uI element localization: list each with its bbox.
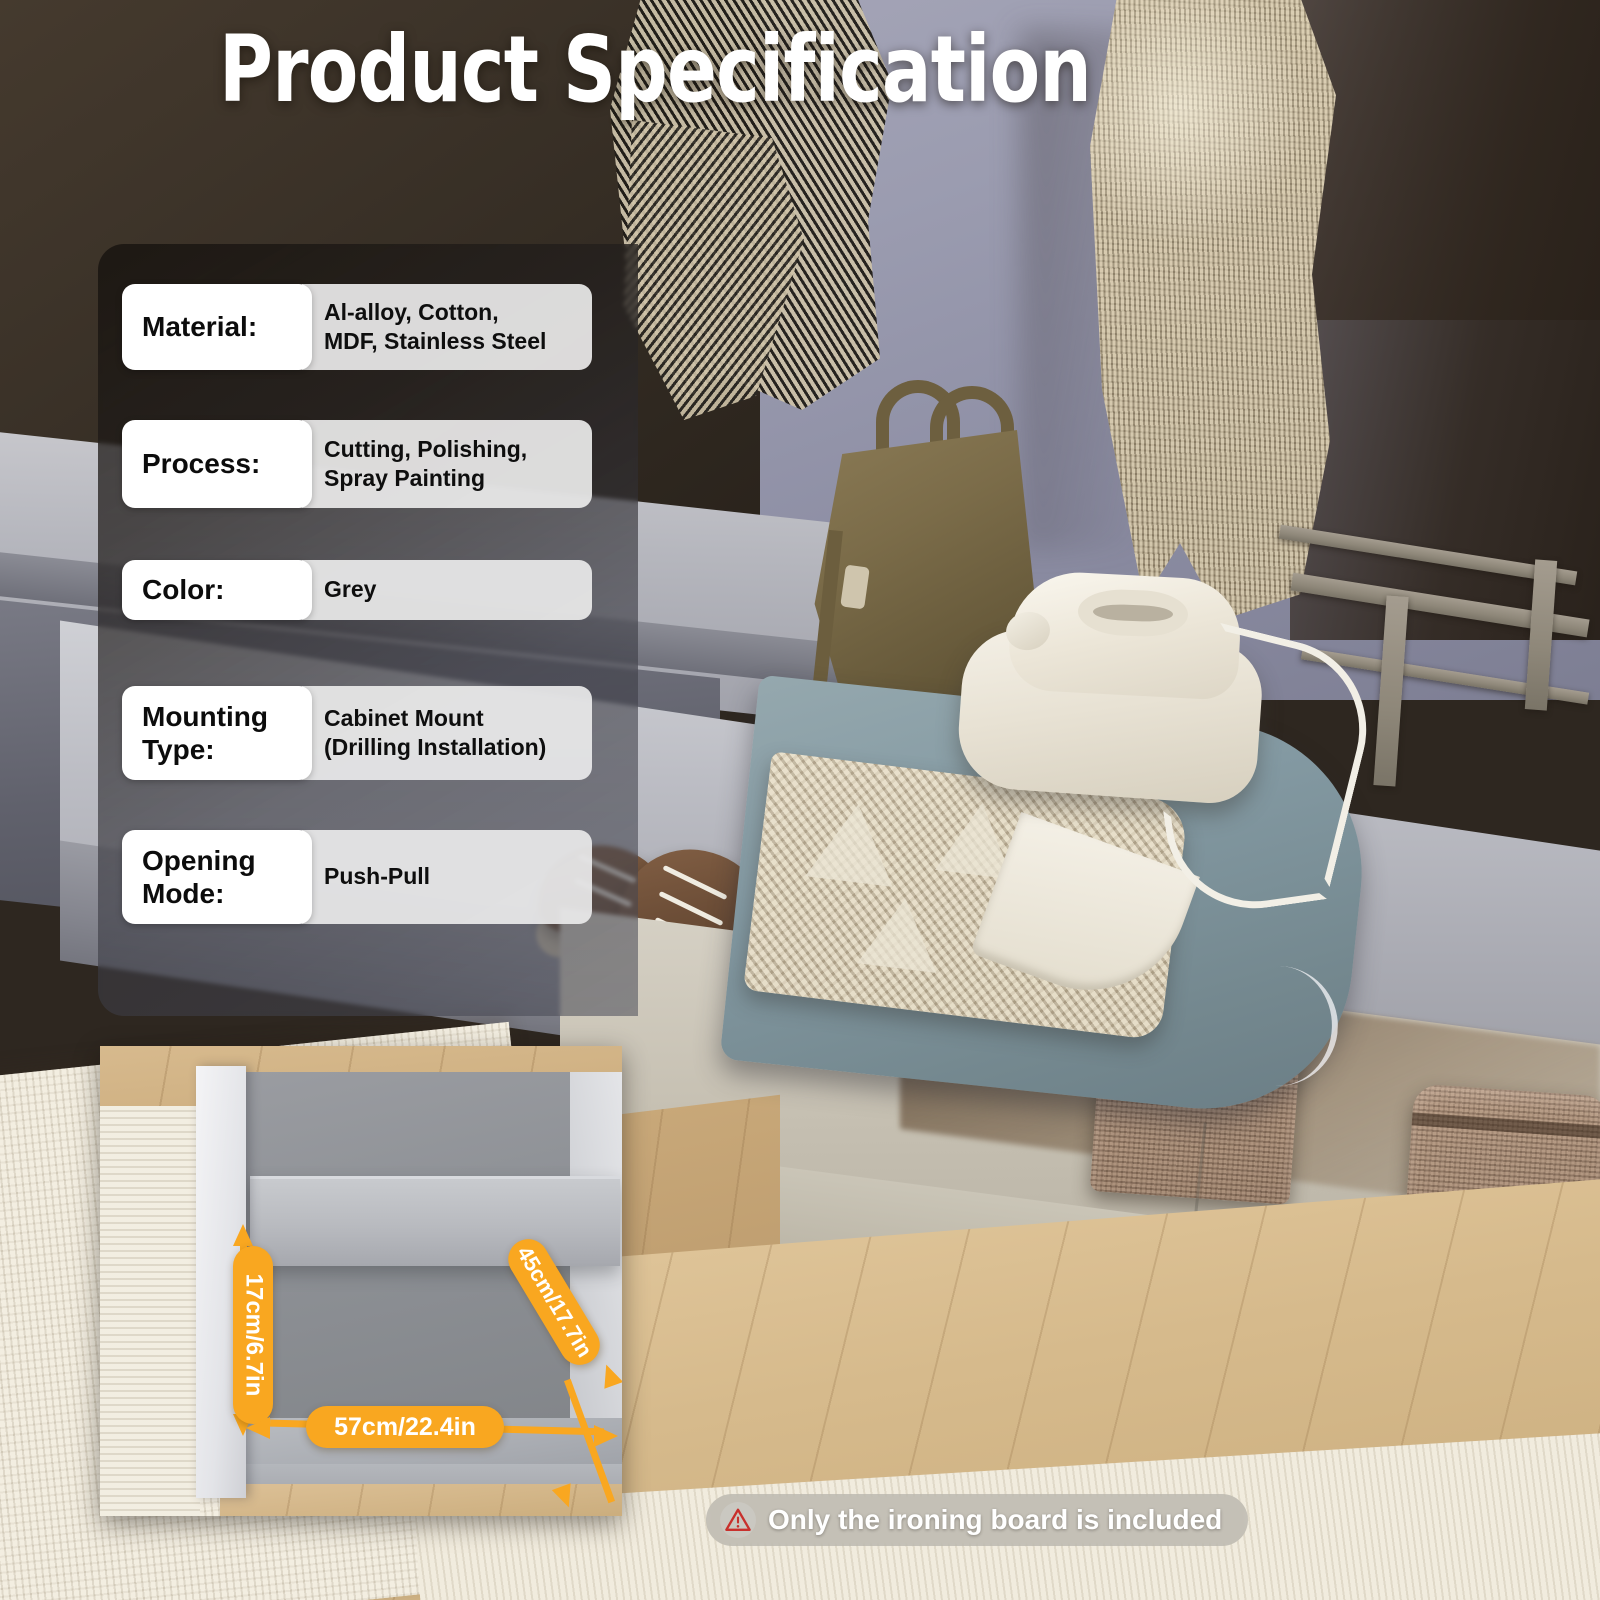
- product-specification-image: Product Specification Material: Al-alloy…: [0, 0, 1600, 1600]
- spec-panel: Material: Al-alloy, Cotton, MDF, Stainle…: [98, 244, 638, 1016]
- spec-row-color: Color: Grey: [122, 560, 592, 620]
- spec-row-material: Material: Al-alloy, Cotton, MDF, Stainle…: [122, 284, 592, 370]
- spec-value-color: Grey: [302, 560, 592, 620]
- dimension-label-height: 17cm/6.7in: [233, 1246, 273, 1424]
- width-arrow-head-right: [594, 1425, 618, 1447]
- inclusion-note-badge: Only the ironing board is included: [706, 1494, 1248, 1546]
- spec-key-process: Process:: [122, 420, 312, 508]
- page-title: Product Specification: [131, 22, 1179, 119]
- spec-key-mounting-type: Mounting Type:: [122, 686, 312, 780]
- inset-drawer-panel: [250, 1176, 620, 1266]
- towel-pattern-1: [805, 799, 902, 887]
- spec-value-material: Al-alloy, Cotton, MDF, Stainless Steel: [302, 284, 592, 370]
- inset-rug: [100, 1106, 200, 1516]
- spec-value-opening-mode: Push-Pull: [302, 830, 592, 924]
- spec-row-mounting-type: Mounting Type: Cabinet Mount (Drilling I…: [122, 686, 592, 780]
- spec-key-material: Material:: [122, 284, 312, 370]
- spec-value-mounting-type: Cabinet Mount (Drilling Installation): [302, 686, 592, 780]
- spec-row-process: Process: Cutting, Polishing, Spray Paint…: [122, 420, 592, 508]
- spec-key-opening-mode: Opening Mode:: [122, 830, 312, 924]
- spec-row-opening-mode: Opening Mode: Push-Pull: [122, 830, 592, 924]
- dimension-diagram-inset: 17cm/6.7in 45cm/17.7in 57cm/22.4in: [100, 1046, 622, 1516]
- width-arrow-head-left: [246, 1417, 270, 1439]
- basket-band: [1412, 1112, 1600, 1139]
- inclusion-note-text: Only the ironing board is included: [768, 1504, 1222, 1536]
- dimension-label-width: 57cm/22.4in: [306, 1406, 504, 1448]
- height-arrow-head-top: [233, 1224, 253, 1246]
- spec-key-color: Color:: [122, 560, 312, 620]
- spec-value-process: Cutting, Polishing, Spray Painting: [302, 420, 592, 508]
- towel-pattern-4: [857, 894, 945, 973]
- warning-triangle-icon: [720, 1502, 756, 1538]
